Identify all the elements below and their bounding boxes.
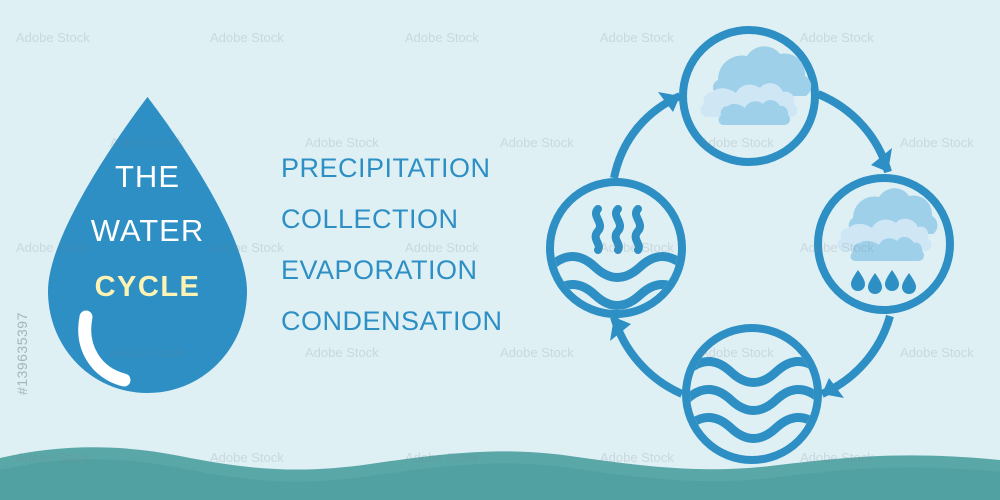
arrow-left-to-top [614, 92, 680, 178]
watermark: Adobe Stock [16, 30, 90, 45]
watermark: Adobe Stock [405, 30, 479, 45]
list-item-collection: COLLECTION [281, 194, 541, 245]
list-item-evaporation: EVAPORATION [281, 245, 541, 296]
list-item-condensation: CONDENSATION [281, 296, 541, 347]
rain-cloud-icon [837, 188, 937, 294]
arrow-top-to-right [818, 94, 892, 172]
water-drop-logo: THE WATER CYCLE [40, 95, 255, 395]
cycle-node-precipitation[interactable] [818, 178, 950, 310]
cycle-node-evaporation[interactable] [550, 182, 685, 334]
water-drop-icon [40, 95, 255, 395]
cycle-node-condensation[interactable] [683, 30, 815, 162]
cloud-icon [701, 46, 812, 125]
cycle-node-collection[interactable] [686, 328, 821, 460]
waves-icon [686, 362, 821, 439]
watermark: Adobe Stock [305, 345, 379, 360]
cycle-stage-list: PRECIPITATION COLLECTION EVAPORATION CON… [281, 143, 541, 347]
arrow-bottom-to-left [610, 317, 682, 394]
arrow-right-to-bottom [822, 316, 890, 398]
stock-image-id: #139635397 [14, 312, 30, 395]
water-cycle-diagram [540, 20, 960, 470]
list-item-precipitation: PRECIPITATION [281, 143, 541, 194]
watermark: Adobe Stock [210, 30, 284, 45]
water-cycle-infographic: THE WATER CYCLE PRECIPITATION COLLECTION… [0, 0, 1000, 500]
